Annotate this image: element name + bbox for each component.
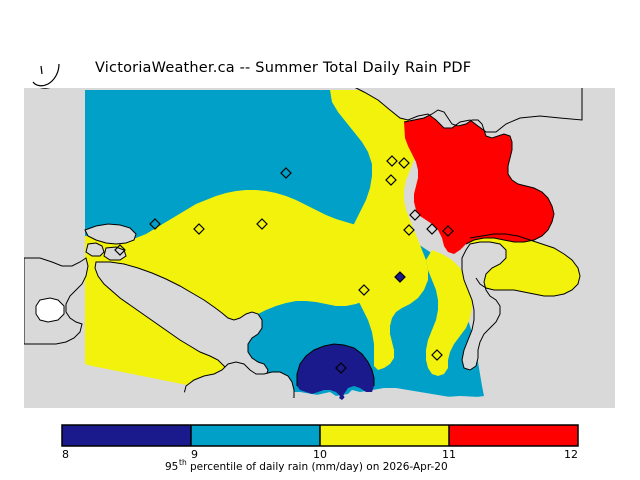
- colorbar-caption: 95 th percentile of daily rain (mm/day) …: [165, 458, 448, 473]
- colorbar-tick-10: 10: [313, 448, 327, 461]
- left-margin-background: [0, 60, 24, 408]
- land-far-east: [582, 60, 615, 408]
- colorbar-caption-number: 95: [165, 461, 178, 473]
- right-margin-background: [615, 60, 640, 408]
- colorbar-tick-8: 8: [62, 448, 69, 461]
- weather-map-page: VictoriaWeather.ca -- Summer Total Daily…: [0, 0, 640, 480]
- land-west-inlet: [36, 298, 64, 322]
- colorbar-band-2: [320, 425, 449, 446]
- colorbar-band-0: [62, 425, 191, 446]
- header-background: [0, 0, 640, 60]
- weather-map-figure: VictoriaWeather.ca -- Summer Total Daily…: [0, 0, 640, 480]
- colorbar-band-1: [191, 425, 320, 446]
- colorbar-tick-9: 9: [191, 448, 198, 461]
- colorbar-tick-11: 11: [442, 448, 456, 461]
- colorbar-tick-12: 12: [564, 448, 578, 461]
- colorbar-caption-main: percentile of daily rain (mm/day) on 202…: [190, 461, 448, 473]
- page-title: VictoriaWeather.ca -- Summer Total Daily…: [95, 60, 471, 76]
- colorbar-caption-superscript: th: [179, 458, 187, 467]
- colorbar-band-3: [449, 425, 578, 446]
